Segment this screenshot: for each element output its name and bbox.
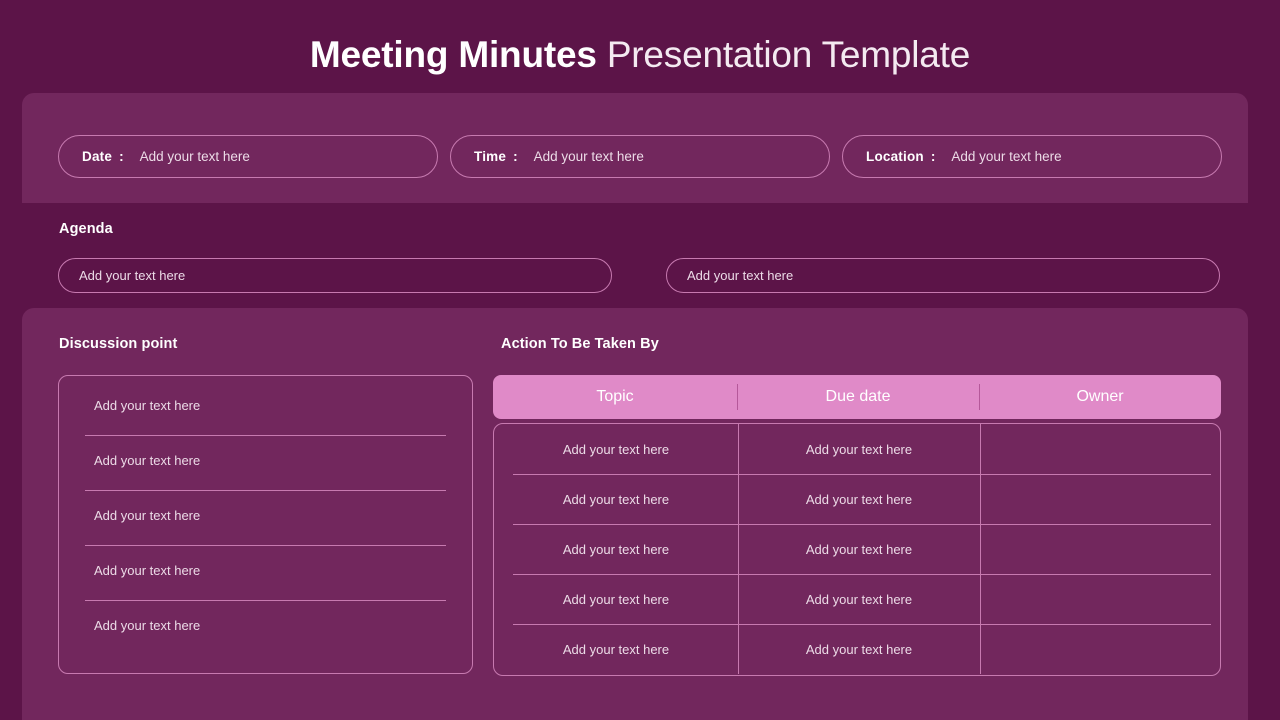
cell-due-date[interactable]: Add your text here [738, 474, 980, 524]
discussion-row[interactable]: Add your text here [59, 453, 472, 508]
table-row[interactable]: Add your text here Add your text here [494, 424, 1220, 474]
action-table-heading: Action To Be Taken By [501, 336, 659, 352]
discussion-row-separator [85, 600, 446, 601]
discussion-row-separator [85, 545, 446, 546]
action-table-body: Add your text here Add your text here Ad… [493, 423, 1221, 676]
table-row[interactable]: Add your text here Add your text here [494, 474, 1220, 524]
cell-due-date[interactable]: Add your text here [738, 574, 980, 624]
page-title-light: Presentation Template [597, 34, 970, 75]
cell-topic[interactable]: Add your text here [494, 624, 738, 674]
discussion-row-separator [85, 435, 446, 436]
page-title-strong: Meeting Minutes [310, 34, 597, 75]
discussion-card: Add your text here Add your text here Ad… [58, 375, 473, 674]
cell-owner[interactable] [980, 424, 1220, 474]
discussion-row[interactable]: Add your text here [59, 563, 472, 618]
time-colon: : [513, 149, 518, 164]
agenda-row: Add your text here Add your text here [58, 258, 1220, 293]
cell-due-date[interactable]: Add your text here [738, 424, 980, 474]
cell-topic[interactable]: Add your text here [494, 474, 738, 524]
time-label: Time [474, 149, 506, 164]
table-row[interactable]: Add your text here Add your text here [494, 574, 1220, 624]
location-label: Location [866, 149, 924, 164]
discussion-row[interactable]: Add your text here [59, 398, 472, 453]
discussion-row-text[interactable]: Add your text here [59, 398, 472, 414]
table-row[interactable]: Add your text here Add your text here [494, 624, 1220, 674]
discussion-row-text[interactable]: Add your text here [59, 618, 472, 634]
cell-owner[interactable] [980, 474, 1220, 524]
date-value[interactable]: Add your text here [140, 149, 250, 164]
agenda-field-2[interactable]: Add your text here [666, 258, 1220, 293]
date-label: Date [82, 149, 112, 164]
column-header-topic[interactable]: Topic [493, 375, 737, 419]
discussion-row[interactable]: Add your text here [59, 618, 472, 673]
cell-due-date[interactable]: Add your text here [738, 624, 980, 674]
location-field[interactable]: Location : Add your text here [842, 135, 1222, 178]
cell-owner[interactable] [980, 524, 1220, 574]
meta-row: Date : Add your text here Time : Add you… [58, 135, 1222, 178]
action-table-header: Topic Due date Owner [493, 375, 1221, 419]
column-header-owner[interactable]: Owner [979, 375, 1221, 419]
cell-due-date[interactable]: Add your text here [738, 524, 980, 574]
discussion-row-text[interactable]: Add your text here [59, 508, 472, 524]
cell-topic[interactable]: Add your text here [494, 424, 738, 474]
agenda-heading: Agenda [59, 221, 113, 237]
table-row[interactable]: Add your text here Add your text here [494, 524, 1220, 574]
discussion-heading: Discussion point [59, 336, 177, 352]
page-title: Meeting Minutes Presentation Template [0, 30, 1280, 80]
time-value[interactable]: Add your text here [534, 149, 644, 164]
location-value[interactable]: Add your text here [951, 149, 1061, 164]
date-field[interactable]: Date : Add your text here [58, 135, 438, 178]
discussion-row-separator [85, 490, 446, 491]
cell-owner[interactable] [980, 624, 1220, 674]
discussion-row-text[interactable]: Add your text here [59, 563, 472, 579]
time-field[interactable]: Time : Add your text here [450, 135, 830, 178]
column-header-due-date[interactable]: Due date [737, 375, 979, 419]
discussion-row-text[interactable]: Add your text here [59, 453, 472, 469]
discussion-row[interactable]: Add your text here [59, 508, 472, 563]
date-colon: : [119, 149, 124, 164]
location-colon: : [931, 149, 936, 164]
agenda-field-1[interactable]: Add your text here [58, 258, 612, 293]
cell-owner[interactable] [980, 574, 1220, 624]
cell-topic[interactable]: Add your text here [494, 574, 738, 624]
cell-topic[interactable]: Add your text here [494, 524, 738, 574]
